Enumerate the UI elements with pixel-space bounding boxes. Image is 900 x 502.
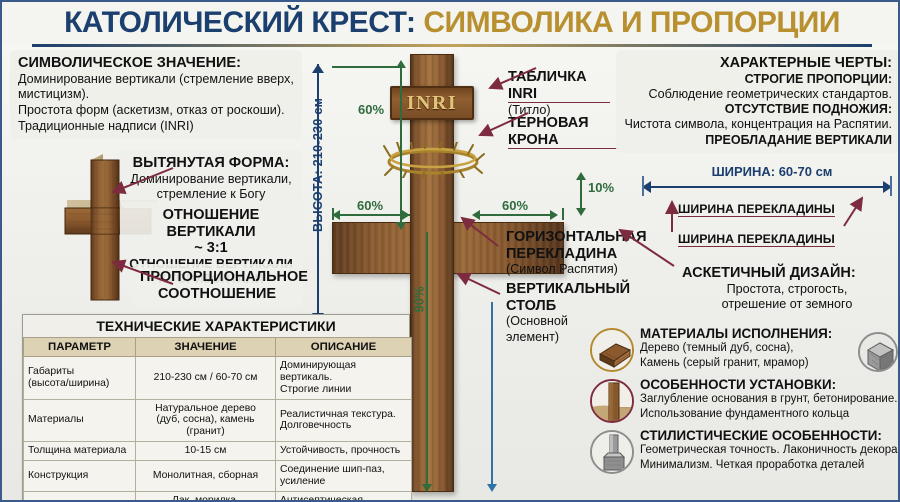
beam-width-label-2: ШИРИНА ПЕРЕКЛАДИНЫ — [678, 232, 835, 247]
table-cell-param: Покрытие — [24, 491, 136, 502]
width-gauge-line — [642, 186, 892, 188]
ascetic-design-panel: АСКЕТИЧНЫЙ ДИЗАЙН: Простота, строгость, … — [674, 260, 900, 318]
materials-details-panel: МАТЕРИАЛЫ ИСПОЛНЕНИЯ:Дерево (темный дуб,… — [590, 326, 900, 479]
table-row: ПокрытиеЛак, морилка,золочениеАнтисептич… — [24, 491, 412, 502]
table-row: Толщина материала10-15 смУстойчивость, п… — [24, 442, 412, 461]
callout-vertical-heading-1: ВЕРТИКАЛЬНЫЙ — [506, 281, 622, 298]
table-cell-param: Конструкция — [24, 461, 136, 492]
dim-top-line — [400, 66, 402, 228]
features-heading: ХАРАКТЕРНЫЕ ЧЕРТЫ: — [624, 55, 892, 72]
table-row: Габариты(высота/ширина)210-230 см / 60-7… — [24, 357, 412, 400]
callout-vertical-heading-2: СТОЛБ — [506, 298, 622, 315]
table-cell-param: Материалы — [24, 399, 136, 442]
dim-pole-arrow-down-icon — [422, 484, 432, 492]
title-part-gold: СИМВОЛИКА И ПРОПОРЦИИ — [423, 6, 840, 39]
material-info-row: ОСОБЕННОСТИ УСТАНОВКИ:Заглубление основа… — [590, 377, 900, 421]
width-cap-right — [890, 176, 892, 196]
material-row-line-2: Минимализм. Четкая проработка деталей — [640, 458, 900, 472]
material-row-heading: СТИЛИСТИЧЕСКИЕ ОСОБЕННОСТИ: — [640, 428, 900, 443]
features-sub-3: ПРЕОБЛАДАНИЕ ВЕРТИКАЛИ — [624, 133, 892, 148]
table-cell-desc: Устойчивость, прочность — [276, 442, 412, 461]
symbolic-line-3: Простота форм (аскетизм, отказ от роскош… — [18, 103, 294, 119]
material-info-row: СТИЛИСТИЧЕСКИЕ ОСОБЕННОСТИ:Геометрическа… — [590, 428, 900, 472]
table-cell-desc: Реалистичная текстура.Долговечность — [276, 399, 412, 442]
dim-right-arrow-right-icon — [550, 210, 558, 220]
dim-left-line — [338, 214, 410, 216]
material-info-row: МАТЕРИАЛЫ ИСПОЛНЕНИЯ:Дерево (темный дуб,… — [590, 326, 900, 370]
features-text-2: Чистота символа, концентрация на Распяти… — [624, 117, 892, 133]
table-header-value: ЗНАЧЕНИЕ — [136, 338, 276, 357]
arrow-inri — [482, 62, 542, 96]
table-cell-value: Монолитная, сборная — [136, 461, 276, 492]
dim-left-label: 60% — [357, 198, 383, 213]
technical-specs-table: ТЕХНИЧЕСКИЕ ХАРАКТЕРИСТИКИ ПАРАМЕТР ЗНАЧ… — [22, 314, 410, 502]
ascetic-heading: АСКЕТИЧНЫЙ ДИЗАЙН: — [682, 265, 892, 282]
symbolic-heading: СИМВОЛИЧЕСКОЕ ЗНАЧЕНИЕ: — [18, 55, 294, 72]
wood-beam-icon — [590, 328, 634, 372]
dim-thickness-label: 10% — [588, 180, 614, 195]
crown-of-thorns-icon — [380, 142, 486, 178]
material-row-line-2: Использование фундаментного кольца — [640, 407, 900, 421]
post-in-ground-icon — [590, 379, 634, 423]
ratio-heading: ОТНОШЕНИЕ ВЕРТИКАЛИ — [128, 207, 294, 240]
callout-horizontal-beam: ГОРИЗОНТАЛЬНАЯ ПЕРЕКЛАДИНА (Символ Распя… — [498, 224, 628, 283]
dim-pole-label: 90% — [412, 286, 427, 312]
dim-left-arrow-right-icon — [402, 210, 410, 220]
arrow-to-cross-top — [97, 162, 177, 202]
beam-width-label-1: ШИРИНА ПЕРЕКЛАДИНЫ — [678, 202, 835, 217]
inri-plaque-text: INRI — [407, 92, 457, 115]
symbolic-line-4: Традиционные надписи (INRI) — [18, 119, 294, 135]
table-title: ТЕХНИЧЕСКИЕ ХАРАКТЕРИСТИКИ — [23, 315, 409, 337]
dim-top-label: 60% — [358, 102, 384, 117]
table-row: МатериалыНатуральное дерево(дуб, сосна),… — [24, 399, 412, 442]
table-header-param: ПАРАМЕТР — [24, 338, 136, 357]
dim-top-tick-line — [332, 66, 402, 68]
table-cell-param: Габариты(высота/ширина) — [24, 357, 136, 400]
callout-horizontal-heading-1: ГОРИЗОНТАЛЬНАЯ — [506, 229, 620, 246]
material-row-line-1: Геометрическая точность. Лаконичность де… — [640, 443, 900, 457]
table-cell-desc: Доминирующая вертикаль.Строгие линии — [276, 357, 412, 400]
table-cell-desc: Соединение шип-паз,усиление — [276, 461, 412, 492]
symbolic-line-2: мистицизм). — [18, 87, 294, 103]
arrow-vertical-post — [450, 264, 510, 300]
table-header-row: ПАРАМЕТР ЗНАЧЕНИЕ ОПИСАНИЕ — [24, 338, 412, 357]
features-sub-1: СТРОГИЕ ПРОПОРЦИИ: — [624, 72, 892, 87]
symbolic-line-1: Доминирование вертикали (стремление ввер… — [18, 72, 294, 88]
table-cell-value: 10-15 см — [136, 442, 276, 461]
pole-baseline-gauge — [491, 302, 493, 490]
page-title: КАТОЛИЧЕСКИЙ КРЕСТ: СИМВОЛИКА И ПРОПОРЦИ… — [2, 2, 900, 44]
width-cap-left — [642, 176, 644, 196]
material-row-heading: ОСОБЕННОСТИ УСТАНОВКИ: — [640, 377, 900, 392]
beam-width-label-1-text: ШИРИНА ПЕРЕКЛАДИНЫ — [678, 202, 835, 217]
material-row-line-1: Заглубление основания в грунт, бетониров… — [640, 392, 900, 406]
pole-baseline-arrow-icon — [487, 484, 497, 492]
table-header-desc: ОПИСАНИЕ — [276, 338, 412, 357]
concrete-base-icon — [590, 430, 634, 474]
arrow-horizontal-beam — [454, 214, 514, 250]
features-text-1: Соблюдение геометрических стандартов. — [624, 87, 892, 103]
arrow-to-cross-bottom — [97, 254, 177, 294]
title-divider — [32, 44, 872, 47]
arrow-crown — [472, 107, 534, 143]
dim-thickness-arrow-up-icon — [576, 172, 586, 180]
stone-cube-icon — [858, 332, 898, 372]
height-gauge: ВЫСОТА: 210-230 см — [305, 64, 331, 322]
dim-thickness-arrow-down-icon — [576, 208, 586, 216]
features-panel: ХАРАКТЕРНЫЕ ЧЕРТЫ: СТРОГИЕ ПРОПОРЦИИ: Со… — [616, 50, 900, 153]
arrow-ascetic — [614, 224, 680, 270]
callout-horizontal-heading-2: ПЕРЕКЛАДИНА — [506, 246, 620, 263]
ascetic-line-2: отрешение от земного — [682, 297, 892, 313]
width-gauge-label: ШИРИНА: 60-70 см — [657, 164, 887, 179]
dim-right-tick — [562, 208, 564, 220]
ascetic-line-1: Простота, строгость, — [682, 282, 892, 298]
table-row: КонструкцияМонолитная, сборнаяСоединение… — [24, 461, 412, 492]
height-arrow-up-icon — [312, 64, 324, 73]
beam-width-label-2-text: ШИРИНА ПЕРЕКЛАДИНЫ — [678, 232, 835, 247]
dim-top-arrow-down-icon — [396, 222, 406, 230]
symbolic-meaning-panel: СИМВОЛИЧЕСКОЕ ЗНАЧЕНИЕ: Доминирование ве… — [10, 50, 302, 139]
height-gauge-label: ВЫСОТА: 210-230 см — [311, 102, 325, 232]
dim-right-label: 60% — [502, 198, 528, 213]
table-cell-value: Лак, морилка,золочение — [136, 491, 276, 502]
title-part-navy: КАТОЛИЧЕСКИЙ КРЕСТ: — [64, 6, 415, 39]
table-cell-param: Толщина материала — [24, 442, 136, 461]
features-sub-2: ОТСУТСТВИЕ ПОДНОЖИЯ: — [624, 102, 892, 117]
dim-left-tick — [332, 208, 334, 220]
table-cell-value: Натуральное дерево(дуб, сосна), камень(г… — [136, 399, 276, 442]
infographic-page: КАТОЛИЧЕСКИЙ КРЕСТ: СИМВОЛИКА И ПРОПОРЦИ… — [0, 0, 900, 502]
dim-pole-line — [426, 232, 428, 490]
table-cell-value: 210-230 см / 60-70 см — [136, 357, 276, 400]
inri-plaque: INRI — [390, 86, 474, 120]
table-cell-desc: Антисептическаяобработка, декор — [276, 491, 412, 502]
arrow-beam-2 — [840, 192, 870, 228]
